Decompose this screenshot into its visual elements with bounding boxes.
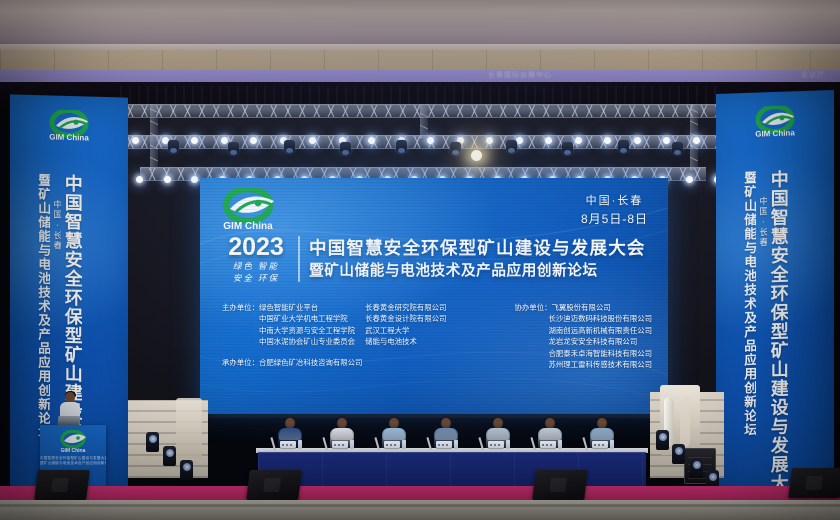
truss-upright-left xyxy=(150,104,158,170)
name-placard xyxy=(280,441,296,448)
gim-logo-podium: GIM China xyxy=(56,430,90,459)
spotlight xyxy=(309,137,316,144)
coorganizers-label: 协办单位： xyxy=(515,303,552,312)
stage-floor-light xyxy=(180,460,193,480)
hall-sign-text-right: 会议厅 xyxy=(735,71,825,81)
hall-ceiling xyxy=(0,0,840,46)
side-banner-right: GIM China 2023 中国智慧安全环保型矿山建设与发展大会 中国·长春 … xyxy=(716,90,834,520)
organizer-item: 武汉工程大学 xyxy=(365,325,446,336)
foreground-floor xyxy=(0,500,840,520)
floor-monitor-1 xyxy=(34,470,90,500)
gim-logo-screen: GIM China xyxy=(214,188,286,239)
spotlight xyxy=(427,137,434,144)
moving-head-light xyxy=(168,140,179,153)
speaker-laptop xyxy=(58,416,81,425)
podium-title-line2: 暨矿山储能与电池技术及产品应用创新论坛 xyxy=(40,461,106,466)
hall-cornice xyxy=(0,50,840,72)
spotlight xyxy=(191,176,198,183)
name-placard xyxy=(332,441,348,448)
organizers-column-2: 长春黄金研究院有限公司长春黄金设计院有限公司武汉工程大学储能与电池技术 xyxy=(365,302,446,348)
screen-title-line2: 暨矿山储能与电池技术及产品应用创新论坛 xyxy=(309,261,652,281)
gim-logo-banner-left: GIM China xyxy=(42,109,96,150)
gim-logo-podium-text: GIM China xyxy=(61,448,86,454)
moving-head-light xyxy=(228,142,239,155)
screen-title-main: 中国智慧安全环保型矿山建设与发展大会 暨矿山储能与电池技术及产品应用创新论坛 xyxy=(309,237,652,281)
organizer-item: 储能与电池技术 xyxy=(365,336,446,347)
side-banner-right-columns: 2023 中国智慧安全环保型矿山建设与发展大会 中国·长春 暨矿山储能与电池技术… xyxy=(716,168,834,518)
water-bottle xyxy=(558,440,562,449)
spotlight xyxy=(221,137,228,144)
spotlight xyxy=(693,137,700,144)
moving-head-light xyxy=(340,142,351,155)
floor-monitor-3 xyxy=(532,470,588,500)
truss-upright-center xyxy=(420,104,428,138)
screen-title-row: 2023 绿色 智能 安全 环保 中国智慧安全环保型矿山建设与发展大会 暨矿山储… xyxy=(218,234,652,284)
screen-city: 中国·长春 xyxy=(581,194,648,209)
organizers-label: 主办单位： xyxy=(222,302,259,348)
side-banner-right-year: 2023 xyxy=(790,169,807,516)
spotlight xyxy=(136,176,143,183)
spotlight xyxy=(486,137,493,144)
screen-coorganizers-block: 协办单位：飞翼股份有限公司 长沙迪迈数码科技股份有限公司湖南创远高新机械有限责任… xyxy=(515,302,652,370)
gim-logo-text-left: GIM China xyxy=(49,132,89,142)
coorganizer-item: 苏州理工雷科传感技术有限公司 xyxy=(549,359,652,370)
name-placard xyxy=(488,441,504,448)
coorganizer-item: 合肥泰禾卓海智能科技有限公司 xyxy=(549,348,652,359)
key-spotlight xyxy=(471,150,482,161)
screen-motto-line2: 安全 环保 xyxy=(218,273,294,284)
stage-floor-light xyxy=(672,444,685,464)
spotlight xyxy=(250,137,257,144)
moving-head-light xyxy=(562,142,573,155)
stage-floor-light xyxy=(146,432,159,452)
gim-logo-banner-right: GIM China xyxy=(748,105,802,146)
moving-head-light xyxy=(672,142,683,155)
moving-head-light xyxy=(506,140,517,153)
screen-year: 2023 xyxy=(218,234,294,260)
moving-head-light xyxy=(618,140,629,153)
screen-year-block: 2023 绿色 智能 安全 环保 xyxy=(218,234,294,284)
coorganizer-item: 湖南创远高新机械有限责任公司 xyxy=(549,325,652,336)
coorganizers-list: 长沙迪迈数码科技股份有限公司湖南创远高新机械有限责任公司龙岩龙安安全科技有限公司… xyxy=(515,313,652,370)
stage-floor-light xyxy=(656,430,669,450)
floor-monitor-2 xyxy=(246,470,302,500)
coorganizer-item: 长沙迪迈数码科技股份有限公司 xyxy=(549,313,652,324)
moving-head-light xyxy=(396,140,407,153)
stage-floor-light xyxy=(163,446,176,466)
organizer-item: 中南大学资源与安全工程学院 xyxy=(259,325,355,336)
spotlight xyxy=(663,137,670,144)
name-placard xyxy=(592,441,608,448)
spotlight xyxy=(634,137,641,144)
conference-stage-photo: 长春国际会展中心 会议厅 GIM China 2023 中国智慧安全环保型矿山建… xyxy=(0,0,840,520)
screen-title-line1: 中国智慧安全环保型矿山建设与发展大会 xyxy=(309,237,652,259)
coorganizer-item: 飞翼股份有限公司 xyxy=(551,303,610,312)
water-bottle xyxy=(454,440,458,449)
side-banner-right-title1: 中国智慧安全环保型矿山建设与发展大会 xyxy=(769,170,787,517)
gim-logo-screen-text: GIM China xyxy=(223,221,273,232)
water-bottle xyxy=(402,440,406,449)
water-bottle xyxy=(506,440,510,449)
spotlight xyxy=(132,137,139,144)
organizers-column-1: 绿色智能矿业平台中国矿业大学机电工程学院中南大学资源与安全工程学院中国水泥协会矿… xyxy=(259,302,355,348)
organizer-item: 中国水泥协会矿山专业委员会 xyxy=(259,336,355,347)
organizers-columns: 绿色智能矿业平台中国矿业大学机电工程学院中南大学资源与安全工程学院中国水泥协会矿… xyxy=(259,302,446,348)
screen-motto-line1: 绿色 智能 xyxy=(218,261,294,272)
main-led-screen: GIM China 中国·长春 8月5日-8日 2023 绿色 智能 安全 环保… xyxy=(200,178,668,414)
spotlight xyxy=(604,137,611,144)
side-banner-right-location: 中国·长春 xyxy=(758,196,767,247)
organizer-item: 长春黄金研究院有限公司 xyxy=(365,302,446,313)
stage-floor-light xyxy=(690,458,703,478)
coorganizers-label-row: 协办单位：飞翼股份有限公司 xyxy=(515,302,652,313)
screen-location-block: 中国·长春 8月5日-8日 xyxy=(581,194,648,227)
spotlight xyxy=(164,176,171,183)
water-bottle xyxy=(350,440,354,449)
moving-head-light xyxy=(450,142,461,155)
host-label: 承办单位： xyxy=(222,358,259,367)
balustrade-left xyxy=(176,398,202,458)
spotlight xyxy=(686,176,693,183)
organizer-item: 中国矿业大学机电工程学院 xyxy=(259,313,355,324)
moving-head-light xyxy=(284,140,295,153)
water-bottle xyxy=(298,440,302,449)
floor-monitor-4 xyxy=(788,468,840,498)
coorganizer-item: 龙岩龙安安全科技有限公司 xyxy=(549,336,652,347)
organizer-item: 绿色智能矿业平台 xyxy=(259,302,355,313)
spotlight xyxy=(575,137,582,144)
name-placard xyxy=(384,441,400,448)
spotlight xyxy=(191,137,198,144)
spotlight xyxy=(545,137,552,144)
water-bottle xyxy=(610,440,614,449)
screen-date: 8月5日-8日 xyxy=(581,211,648,227)
hall-sign-text: 长春国际会展中心 xyxy=(420,71,620,81)
spotlight xyxy=(368,137,375,144)
name-placard xyxy=(436,441,452,448)
side-banner-left-location: 中国·长春 xyxy=(52,200,61,251)
organizer-item: 长春黄金设计院有限公司 xyxy=(365,313,446,324)
title-divider xyxy=(298,236,300,282)
host-value: 合肥绿色矿冶科技咨询有限公司 xyxy=(259,358,362,367)
gim-logo-text-right: GIM China xyxy=(755,128,795,138)
name-placard xyxy=(540,441,556,448)
side-banner-right-title2: 暨矿山储能与电池技术及产品应用创新论坛 xyxy=(743,171,756,517)
